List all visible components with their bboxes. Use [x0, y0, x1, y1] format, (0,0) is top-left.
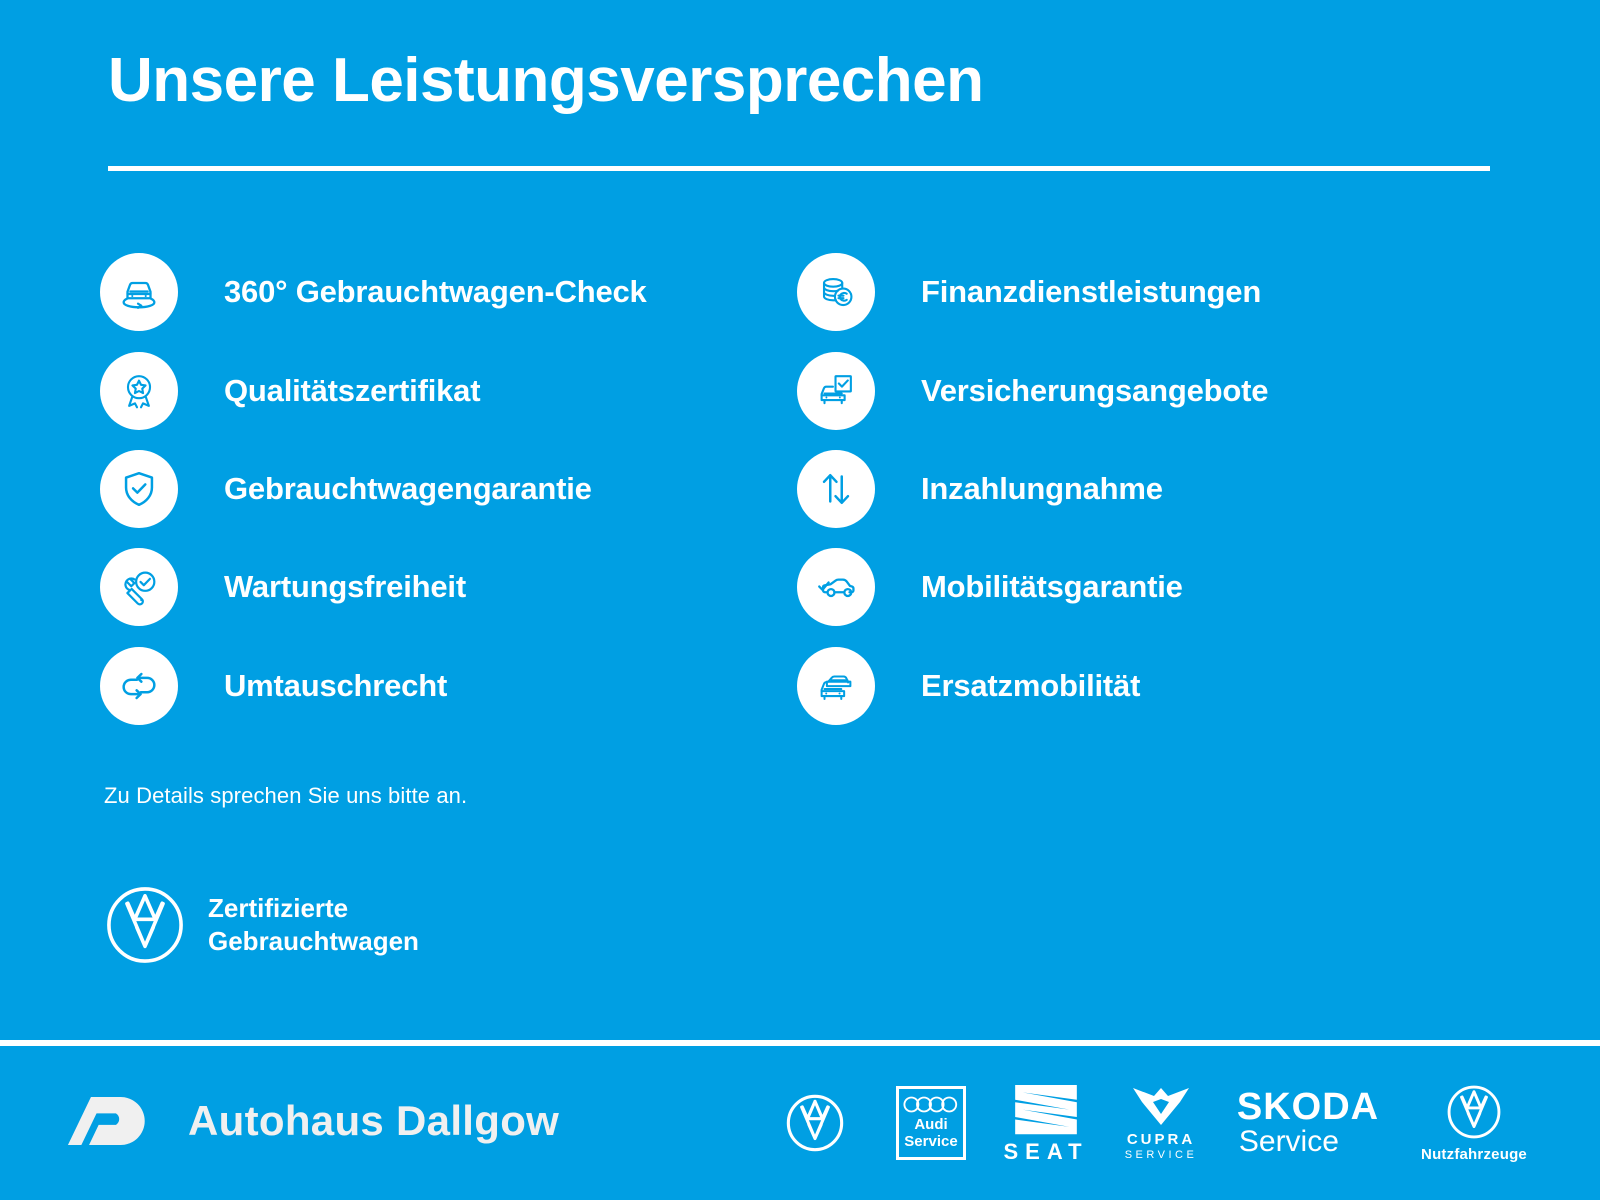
two-cars-icon	[797, 647, 875, 725]
feature-item[interactable]: Finanzdienstleistungen	[797, 243, 1497, 341]
certified-line-1: Zertifizierte	[208, 892, 419, 925]
feature-label: Gebrauchtwagengarantie	[224, 471, 592, 507]
feature-item[interactable]: Versicherungsangebote	[797, 341, 1497, 439]
seat-wordmark: SEAT	[1003, 1139, 1088, 1165]
exchange-arrows-icon	[100, 647, 178, 725]
footer: Autohaus Dallgow Audi S	[0, 1046, 1600, 1200]
feature-label: Wartungsfreiheit	[224, 569, 466, 605]
skoda-wordmark: SKODA	[1237, 1088, 1379, 1126]
feature-item[interactable]: 360° Gebrauchtwagen-Check	[100, 243, 790, 341]
feature-label: Umtauschrecht	[224, 668, 447, 704]
skoda-stack: SKODA Service	[1237, 1088, 1379, 1158]
feature-label: 360° Gebrauchtwagen-Check	[224, 274, 647, 310]
award-rosette-icon	[100, 352, 178, 430]
feature-item[interactable]: Gebrauchtwagengarantie	[100, 440, 790, 538]
cupra-service-label: SERVICE	[1125, 1149, 1198, 1161]
promo-page: Unsere Leistungsversprechen 360°	[0, 0, 1600, 1200]
feature-item[interactable]: Mobilitätsgarantie	[797, 538, 1497, 636]
shield-check-icon	[100, 450, 178, 528]
car-check-icon	[797, 548, 875, 626]
coins-euro-icon	[797, 253, 875, 331]
vw-logo-icon	[104, 884, 186, 966]
vw-logo-icon	[784, 1092, 846, 1154]
feature-item[interactable]: Qualitätszertifikat	[100, 341, 790, 439]
audi-word-1: Audi	[914, 1117, 947, 1134]
page-title: Unsere Leistungsversprechen	[108, 48, 984, 113]
brand-logo-audi-service: Audi Service	[875, 1086, 987, 1160]
seat-s-icon	[1009, 1081, 1083, 1137]
brand-logo-cupra-service: CUPRA SERVICE	[1105, 1085, 1217, 1161]
feature-item[interactable]: Ersatzmobilität	[797, 637, 1497, 735]
certified-line-2: Gebrauchtwagen	[208, 925, 419, 958]
ad-monogram-icon	[66, 1092, 162, 1150]
dealer-name: Autohaus Dallgow	[188, 1097, 559, 1145]
details-note: Zu Details sprechen Sie uns bitte an.	[104, 783, 467, 809]
feature-item[interactable]: Inzahlungnahme	[797, 440, 1497, 538]
certified-label-block: Zertifizierte Gebrauchtwagen	[208, 892, 419, 959]
brand-logo-vw	[755, 1092, 875, 1154]
feature-label: Qualitätszertifikat	[224, 373, 480, 409]
feature-label: Versicherungsangebote	[921, 373, 1268, 409]
brand-logo-vw-nutzfahrzeuge: Nutzfahrzeuge	[1399, 1083, 1549, 1163]
wrench-check-icon	[100, 548, 178, 626]
brand-logo-skoda-service: SKODA Service	[1217, 1088, 1399, 1158]
header-divider	[108, 166, 1490, 171]
brand-logo-strip: Audi Service SEAT CUPRA SERVICE SKO	[755, 1046, 1600, 1200]
certified-used-cars-badge: Zertifizierte Gebrauchtwagen	[104, 884, 419, 966]
feature-column-right: Finanzdienstleistungen Versicheru	[797, 243, 1497, 735]
cupra-emblem-icon	[1131, 1085, 1191, 1127]
skoda-service-label: Service	[1239, 1126, 1339, 1158]
feature-label: Finanzdienstleistungen	[921, 274, 1261, 310]
feature-label: Mobilitätsgarantie	[921, 569, 1183, 605]
cupra-wordmark: CUPRA	[1127, 1131, 1195, 1148]
audi-service-box: Audi Service	[896, 1086, 966, 1160]
car-document-check-icon	[797, 352, 875, 430]
feature-item[interactable]: Umtauschrecht	[100, 637, 790, 735]
dealer-branding[interactable]: Autohaus Dallgow	[66, 1092, 559, 1150]
car-360-rotate-icon	[100, 253, 178, 331]
vw-nutzfahrzeuge-label: Nutzfahrzeuge	[1421, 1146, 1527, 1163]
feature-item[interactable]: Wartungsfreiheit	[100, 538, 790, 636]
audi-word-2: Service	[904, 1134, 957, 1151]
brand-logo-seat: SEAT	[987, 1081, 1105, 1165]
feature-label: Ersatzmobilität	[921, 668, 1140, 704]
vw-logo-icon	[1445, 1083, 1503, 1141]
audi-rings-icon	[903, 1096, 959, 1113]
feature-column-left: 360° Gebrauchtwagen-Check Qualitätszerti…	[100, 243, 790, 735]
feature-label: Inzahlungnahme	[921, 471, 1163, 507]
arrows-up-down-icon	[797, 450, 875, 528]
